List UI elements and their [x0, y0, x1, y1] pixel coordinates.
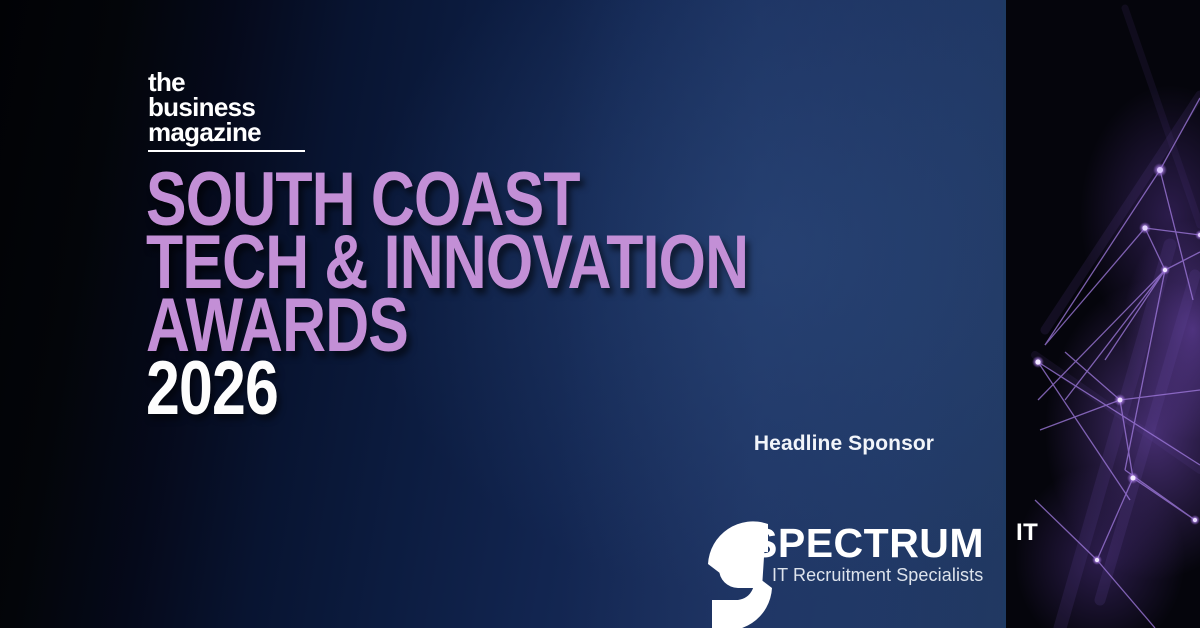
masthead-line-3: magazine — [148, 120, 378, 145]
masthead-underline — [148, 150, 305, 152]
sponsor-wordmark-superscript: IT — [1016, 519, 1038, 547]
panel-divider — [1003, 0, 1006, 628]
promotional-banner: the business magazine SOUTH COAST TECH &… — [0, 0, 1200, 628]
sponsor-wordmark: SPECTRUM — [750, 522, 984, 564]
headline-sponsor-block: Headline Sponsor SPECTRUM IT IT Recruitm… — [688, 432, 1000, 590]
title-year: 2026 — [146, 357, 748, 420]
sponsor-tagline: IT Recruitment Specialists — [772, 565, 1002, 586]
sponsor-wordmark-group: SPECTRUM IT IT Recruitment Specialists — [750, 522, 1002, 586]
publication-masthead: the business magazine — [148, 70, 378, 152]
sponsor-logo: SPECTRUM IT IT Recruitment Specialists — [688, 478, 1000, 590]
award-title: SOUTH COAST TECH & INNOVATION AWARDS 202… — [146, 168, 899, 420]
sponsor-label: Headline Sponsor — [688, 432, 1000, 456]
